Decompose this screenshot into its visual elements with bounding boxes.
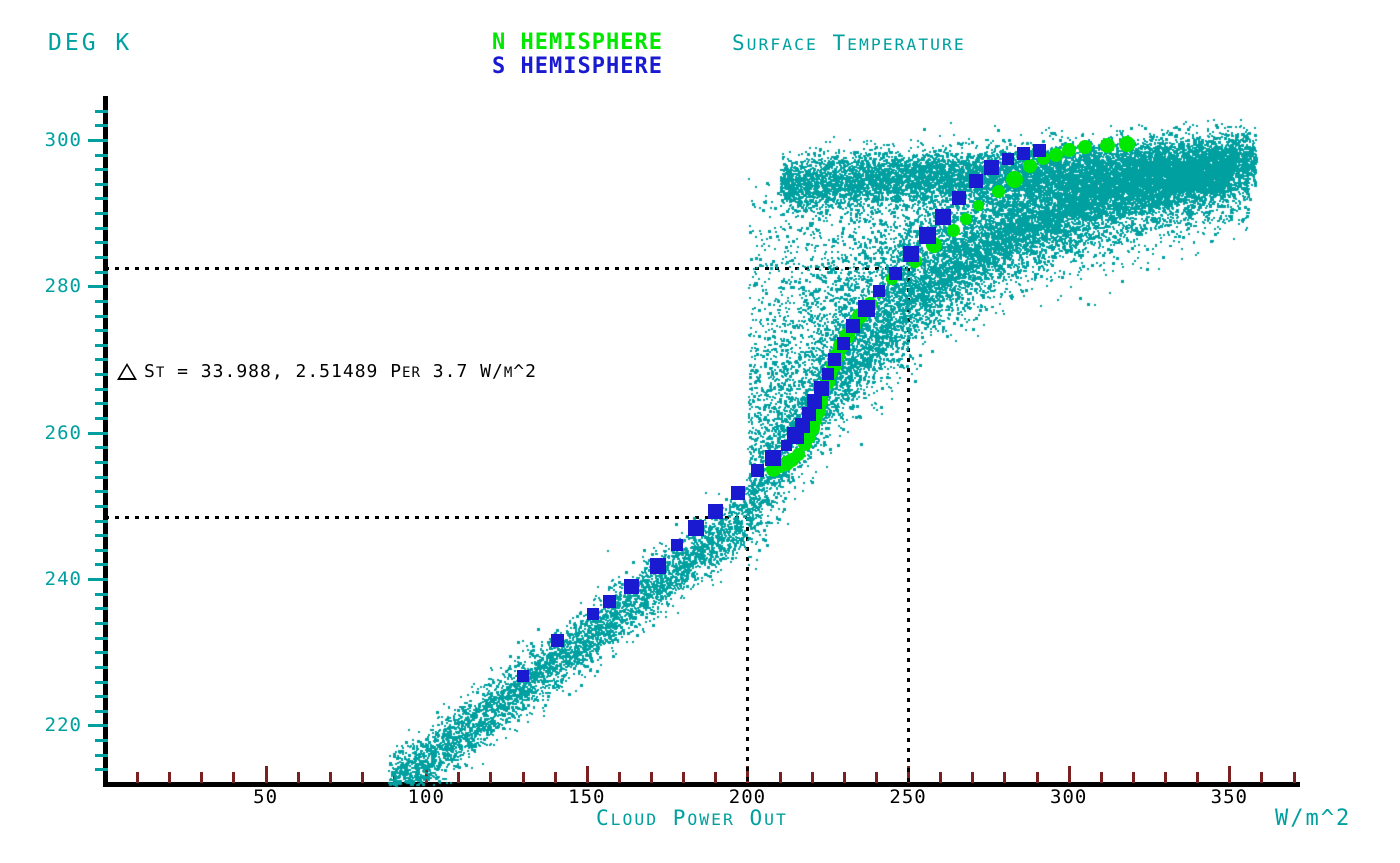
s-hemisphere-marker <box>650 558 666 574</box>
s-hemisphere-marker <box>822 368 834 380</box>
s-hemisphere-marker <box>708 504 723 519</box>
s-hemisphere-marker <box>935 209 951 225</box>
s-hemisphere-marker <box>814 381 829 396</box>
s-hemisphere-marker <box>765 450 781 466</box>
s-hemisphere-marker <box>624 579 639 594</box>
n-hemisphere-marker <box>992 185 1005 198</box>
n-hemisphere-marker <box>947 224 960 237</box>
s-hemisphere-marker <box>517 670 529 682</box>
delta-st-text: ST = 33.988, 2.51489 PER 3.7 W/M^2 <box>144 361 537 382</box>
delta-st-annotation: ST = 33.988, 2.51489 PER 3.7 W/M^2 <box>117 361 537 382</box>
n-hemisphere-marker <box>1062 143 1076 157</box>
s-hemisphere-marker <box>837 337 850 350</box>
n-hemisphere-marker <box>1078 140 1092 154</box>
s-hemisphere-marker <box>952 191 966 205</box>
s-hemisphere-marker <box>551 634 564 647</box>
n-hemisphere-marker <box>1049 148 1063 162</box>
n-hemisphere-marker <box>1100 138 1115 153</box>
s-hemisphere-marker <box>903 246 919 262</box>
s-hemisphere-marker <box>919 227 936 244</box>
s-hemisphere-marker <box>984 160 999 175</box>
s-hemisphere-marker <box>587 608 599 620</box>
s-hemisphere-marker <box>1002 153 1014 165</box>
s-hemisphere-marker <box>751 464 764 477</box>
s-hemisphere-marker <box>1033 144 1046 157</box>
s-hemisphere-marker <box>731 486 745 500</box>
scatter-plot-figure: DEG K N HEMISPHERE S HEMISPHERE SURFACE … <box>0 0 1400 863</box>
s-hemisphere-marker <box>858 300 875 317</box>
s-hemisphere-marker <box>688 520 704 536</box>
s-hemisphere-marker <box>969 174 983 188</box>
n-hemisphere-marker <box>1119 136 1135 152</box>
x-axis-title: CLOUD POWER OUT <box>596 808 788 829</box>
s-hemisphere-marker <box>889 267 902 280</box>
s-hemisphere-marker <box>846 319 860 333</box>
delta-triangle-icon <box>117 363 137 380</box>
s-hemisphere-marker <box>1017 147 1030 160</box>
n-hemisphere-marker <box>960 213 972 225</box>
scatter-point-cloud <box>0 0 1400 863</box>
s-hemisphere-marker <box>671 539 683 551</box>
s-hemisphere-marker <box>828 353 841 366</box>
x-axis-unit-label: W/m^2 <box>1275 808 1351 830</box>
s-hemisphere-marker <box>873 285 885 297</box>
n-hemisphere-marker <box>1006 171 1023 188</box>
s-hemisphere-marker <box>807 394 822 409</box>
s-hemisphere-marker <box>603 595 616 608</box>
